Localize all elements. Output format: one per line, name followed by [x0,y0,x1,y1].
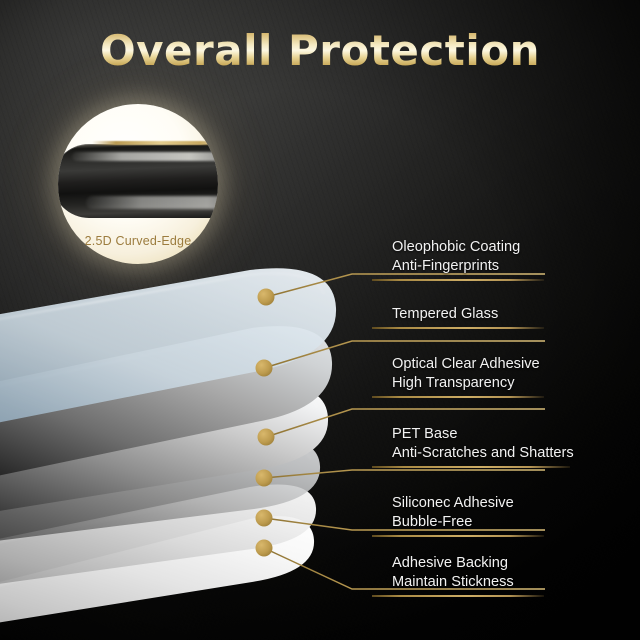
callout-line-1: Adhesive Backing [372,554,622,573]
callout-adhesive-backing: Adhesive Backing Maintain Stickness [372,554,622,597]
callout-line-1: PET Base [372,425,622,444]
callout-line-1: Tempered Glass [372,305,622,324]
callout-line-1: Oleophobic Coating [372,238,622,257]
poster-canvas: Overall Protection 2.5D Curved-Edge [0,0,640,640]
callout-siliconec-adhesive: Siliconec Adhesive Bubble-Free [372,494,622,537]
callout-line-2: Anti-Scratches and Shatters [372,444,622,463]
callout-rule [372,535,544,537]
callout-line-1: Siliconec Adhesive [372,494,622,513]
callout-line-2: Anti-Fingerprints [372,257,622,276]
callout-rule [372,595,544,597]
callout-pet-base: PET Base Anti-Scratches and Shatters [372,425,622,468]
callout-line-2: Bubble-Free [372,513,622,532]
callout-rule [372,279,544,281]
callout-rule [372,327,544,329]
callout-line-2: Maintain Stickness [372,573,622,592]
callout-optical-clear-adhesive: Optical Clear Adhesive High Transparency [372,355,622,398]
callout-line-2: High Transparency [372,374,622,393]
callout-rule [372,396,544,398]
callout-line-1: Optical Clear Adhesive [372,355,622,374]
callout-rule [372,466,570,468]
callout-tempered-glass: Tempered Glass [372,305,622,329]
callout-oleophobic-coating: Oleophobic Coating Anti-Fingerprints [372,238,622,281]
